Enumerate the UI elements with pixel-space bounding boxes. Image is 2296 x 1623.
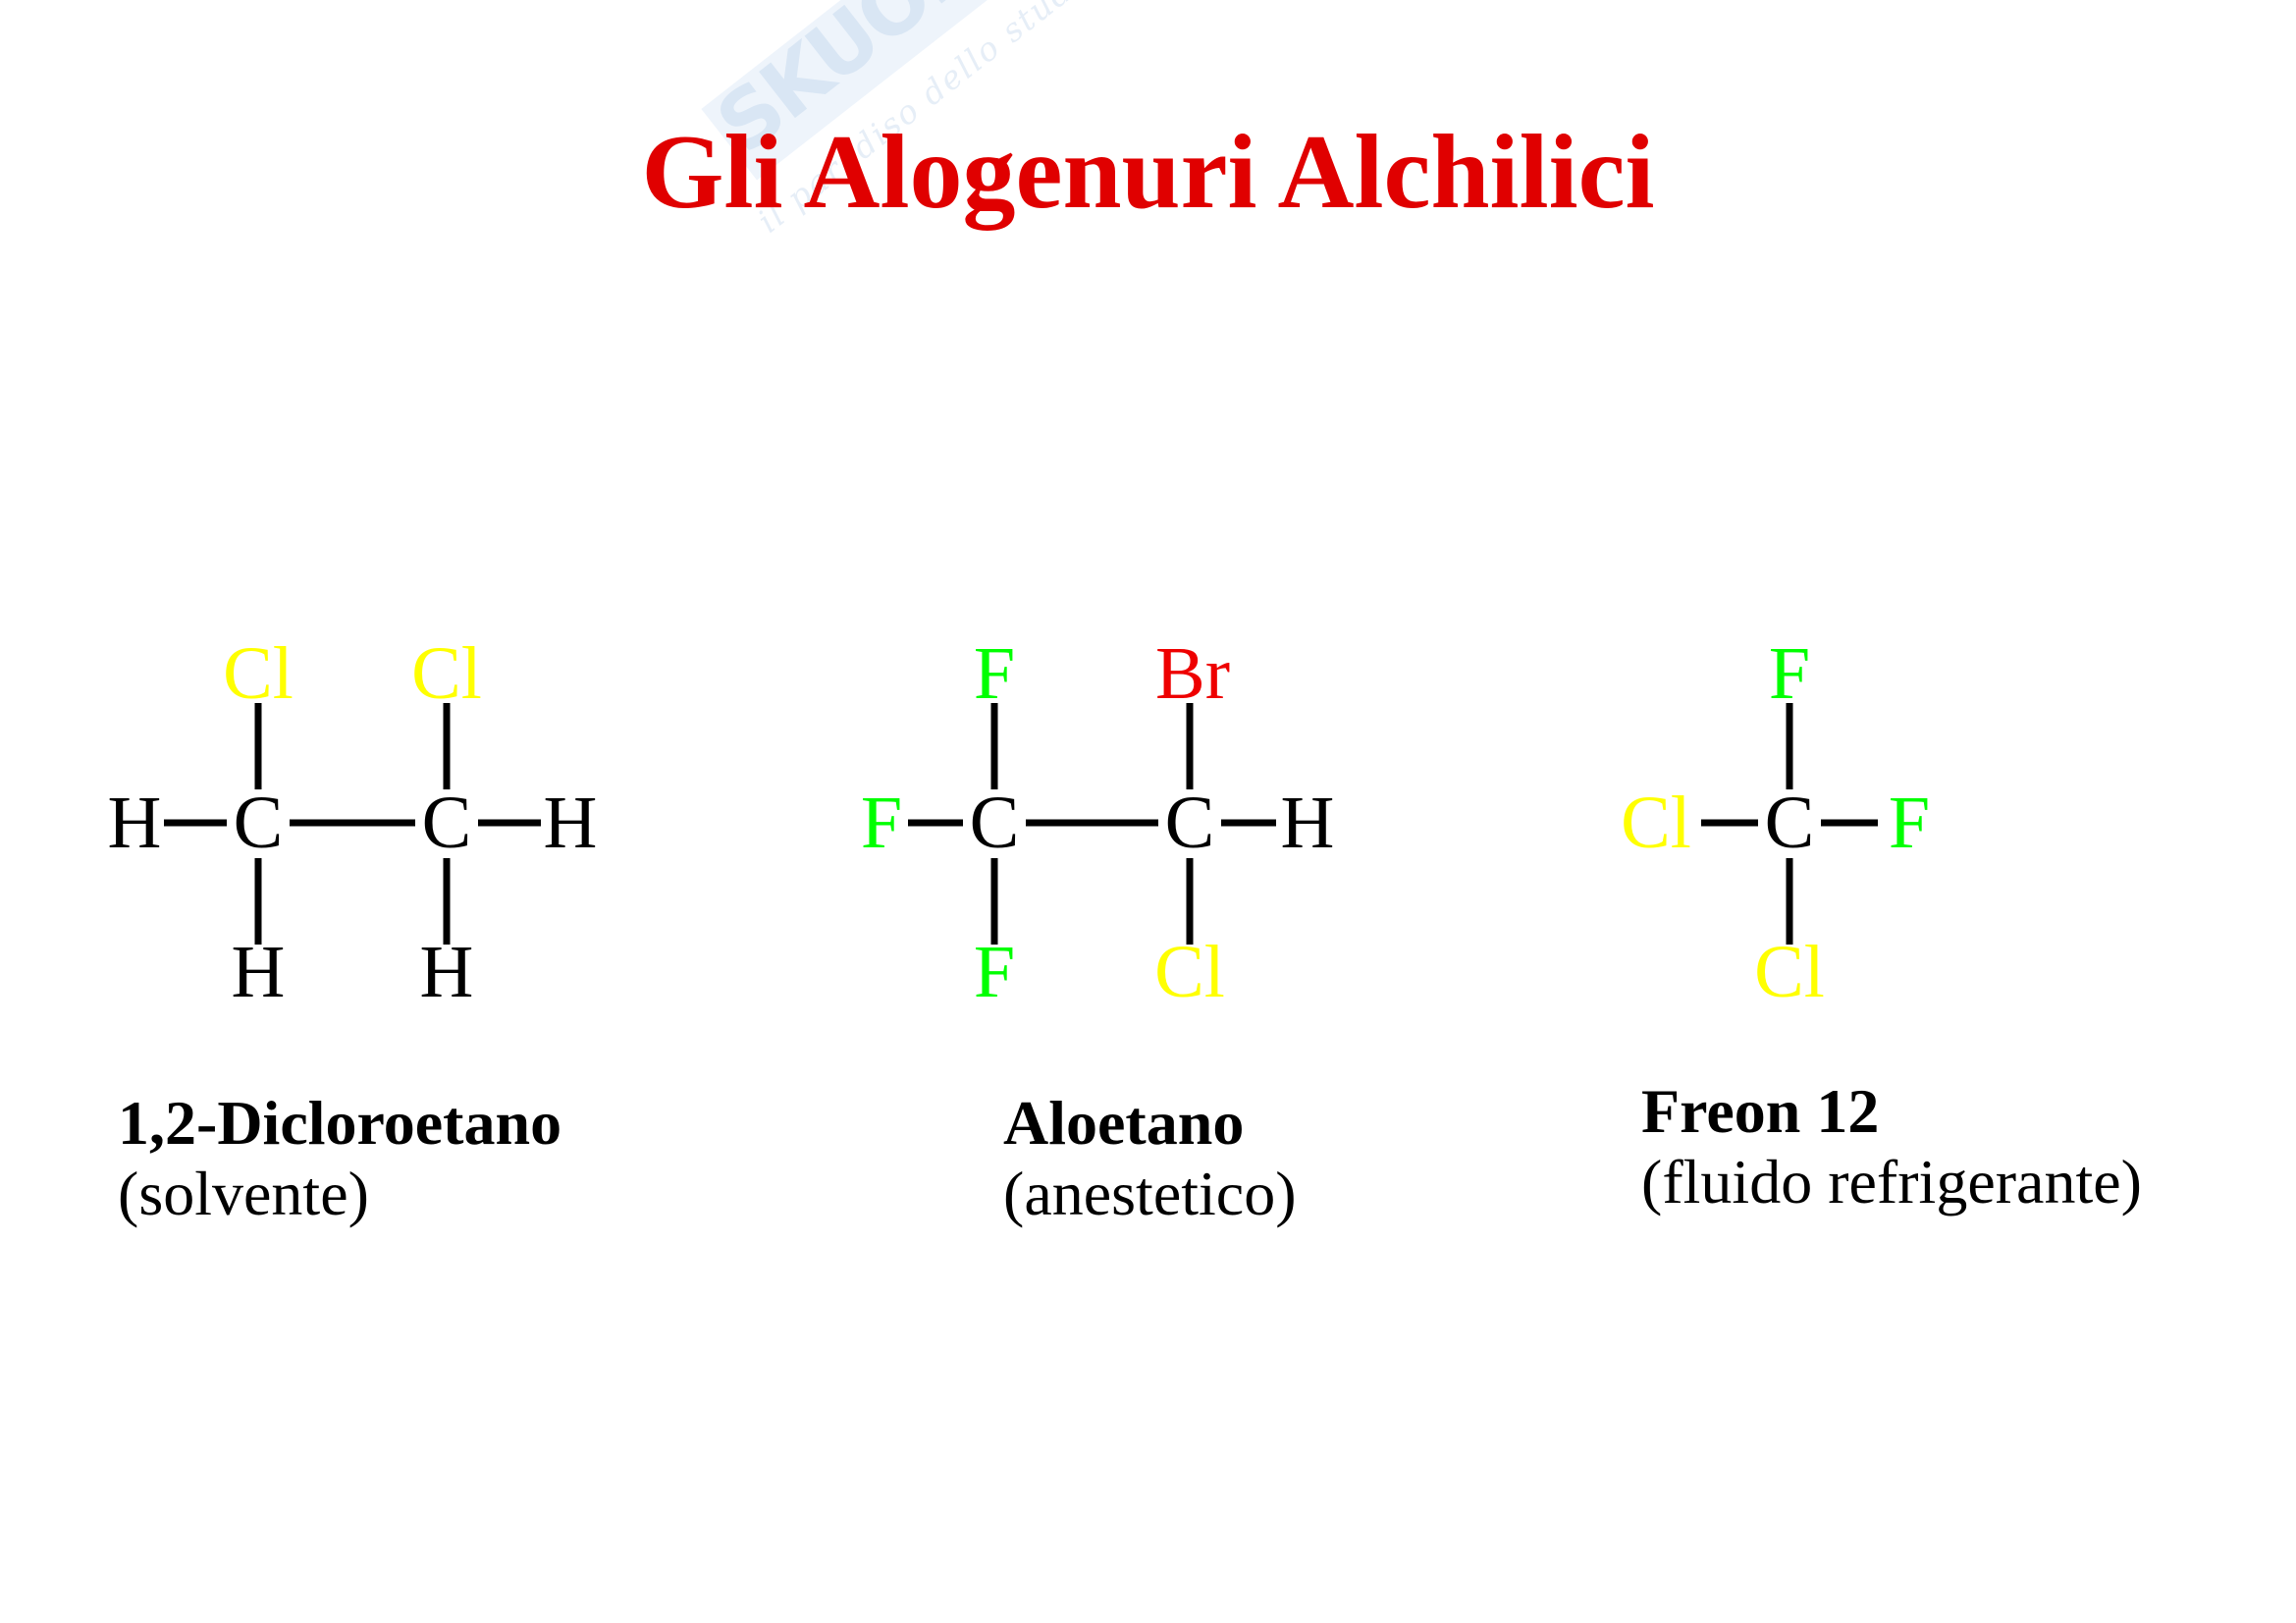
caption-use-dicloroetano: (solvente) [118,1159,561,1229]
atom-h-c2-right: H [544,785,598,860]
atom-h-c1-bottom: H [232,935,286,1009]
molecule-diagram-row: Cl Cl H C C H H H F Br F C C H F Cl F Cl [0,0,2296,1623]
atom-c1: C [234,785,284,860]
atom-c1: C [970,785,1020,860]
bond-f-c1 [908,820,963,827]
page-title: Gli Alogenuri Alchilici [0,116,2296,231]
bond-c1-top [991,703,998,789]
atom-br-c2-top: Br [1155,636,1230,711]
bond-c-top [1787,703,1793,789]
caption-name-aloetano: Aloetano [1003,1088,1297,1159]
atom-cl-c2-bottom: Cl [1154,935,1225,1009]
bond-c2-h [1221,820,1276,827]
atom-c2: C [422,785,472,860]
atom-c2: C [1165,785,1215,860]
atom-h-c2-right: H [1281,785,1335,860]
caption-dicloroetano: 1,2-Dicloroetano (solvente) [118,1088,561,1228]
atom-h-c1-left: H [108,785,162,860]
bond-c2-top [1187,703,1194,789]
bond-cl-c [1701,820,1758,827]
atom-cl-c1-top: Cl [223,636,294,711]
atom-f-c1-left: F [861,785,902,860]
atom-f-top: F [1769,636,1810,711]
bond-c2-top [444,703,451,789]
atom-f-c1-bottom: F [974,935,1015,1009]
atom-cl-bottom: Cl [1754,935,1825,1009]
bond-c1-c2 [1026,820,1158,827]
caption-name-dicloroetano: 1,2-Dicloroetano [118,1088,561,1159]
caption-use-freon12: (fluido refrigerante) [1641,1147,2142,1217]
bond-c2-h [478,820,541,827]
caption-use-aloetano: (anestetico) [1003,1159,1297,1229]
atom-cl-left: Cl [1621,785,1691,860]
caption-name-freon12: Freon 12 [1641,1076,2142,1147]
bond-c1-top [255,703,262,789]
bond-c-f [1821,820,1878,827]
bond-h-c1 [164,820,227,827]
atom-h-c2-bottom: H [420,935,474,1009]
atom-cl-c2-top: Cl [411,636,482,711]
bond-c1-c2 [290,820,415,827]
caption-aloetano: Aloetano (anestetico) [1003,1088,1297,1228]
caption-freon12: Freon 12 (fluido refrigerante) [1641,1076,2142,1217]
atom-c-center: C [1765,785,1815,860]
atom-f-right: F [1889,785,1930,860]
atom-f-c1-top: F [974,636,1015,711]
